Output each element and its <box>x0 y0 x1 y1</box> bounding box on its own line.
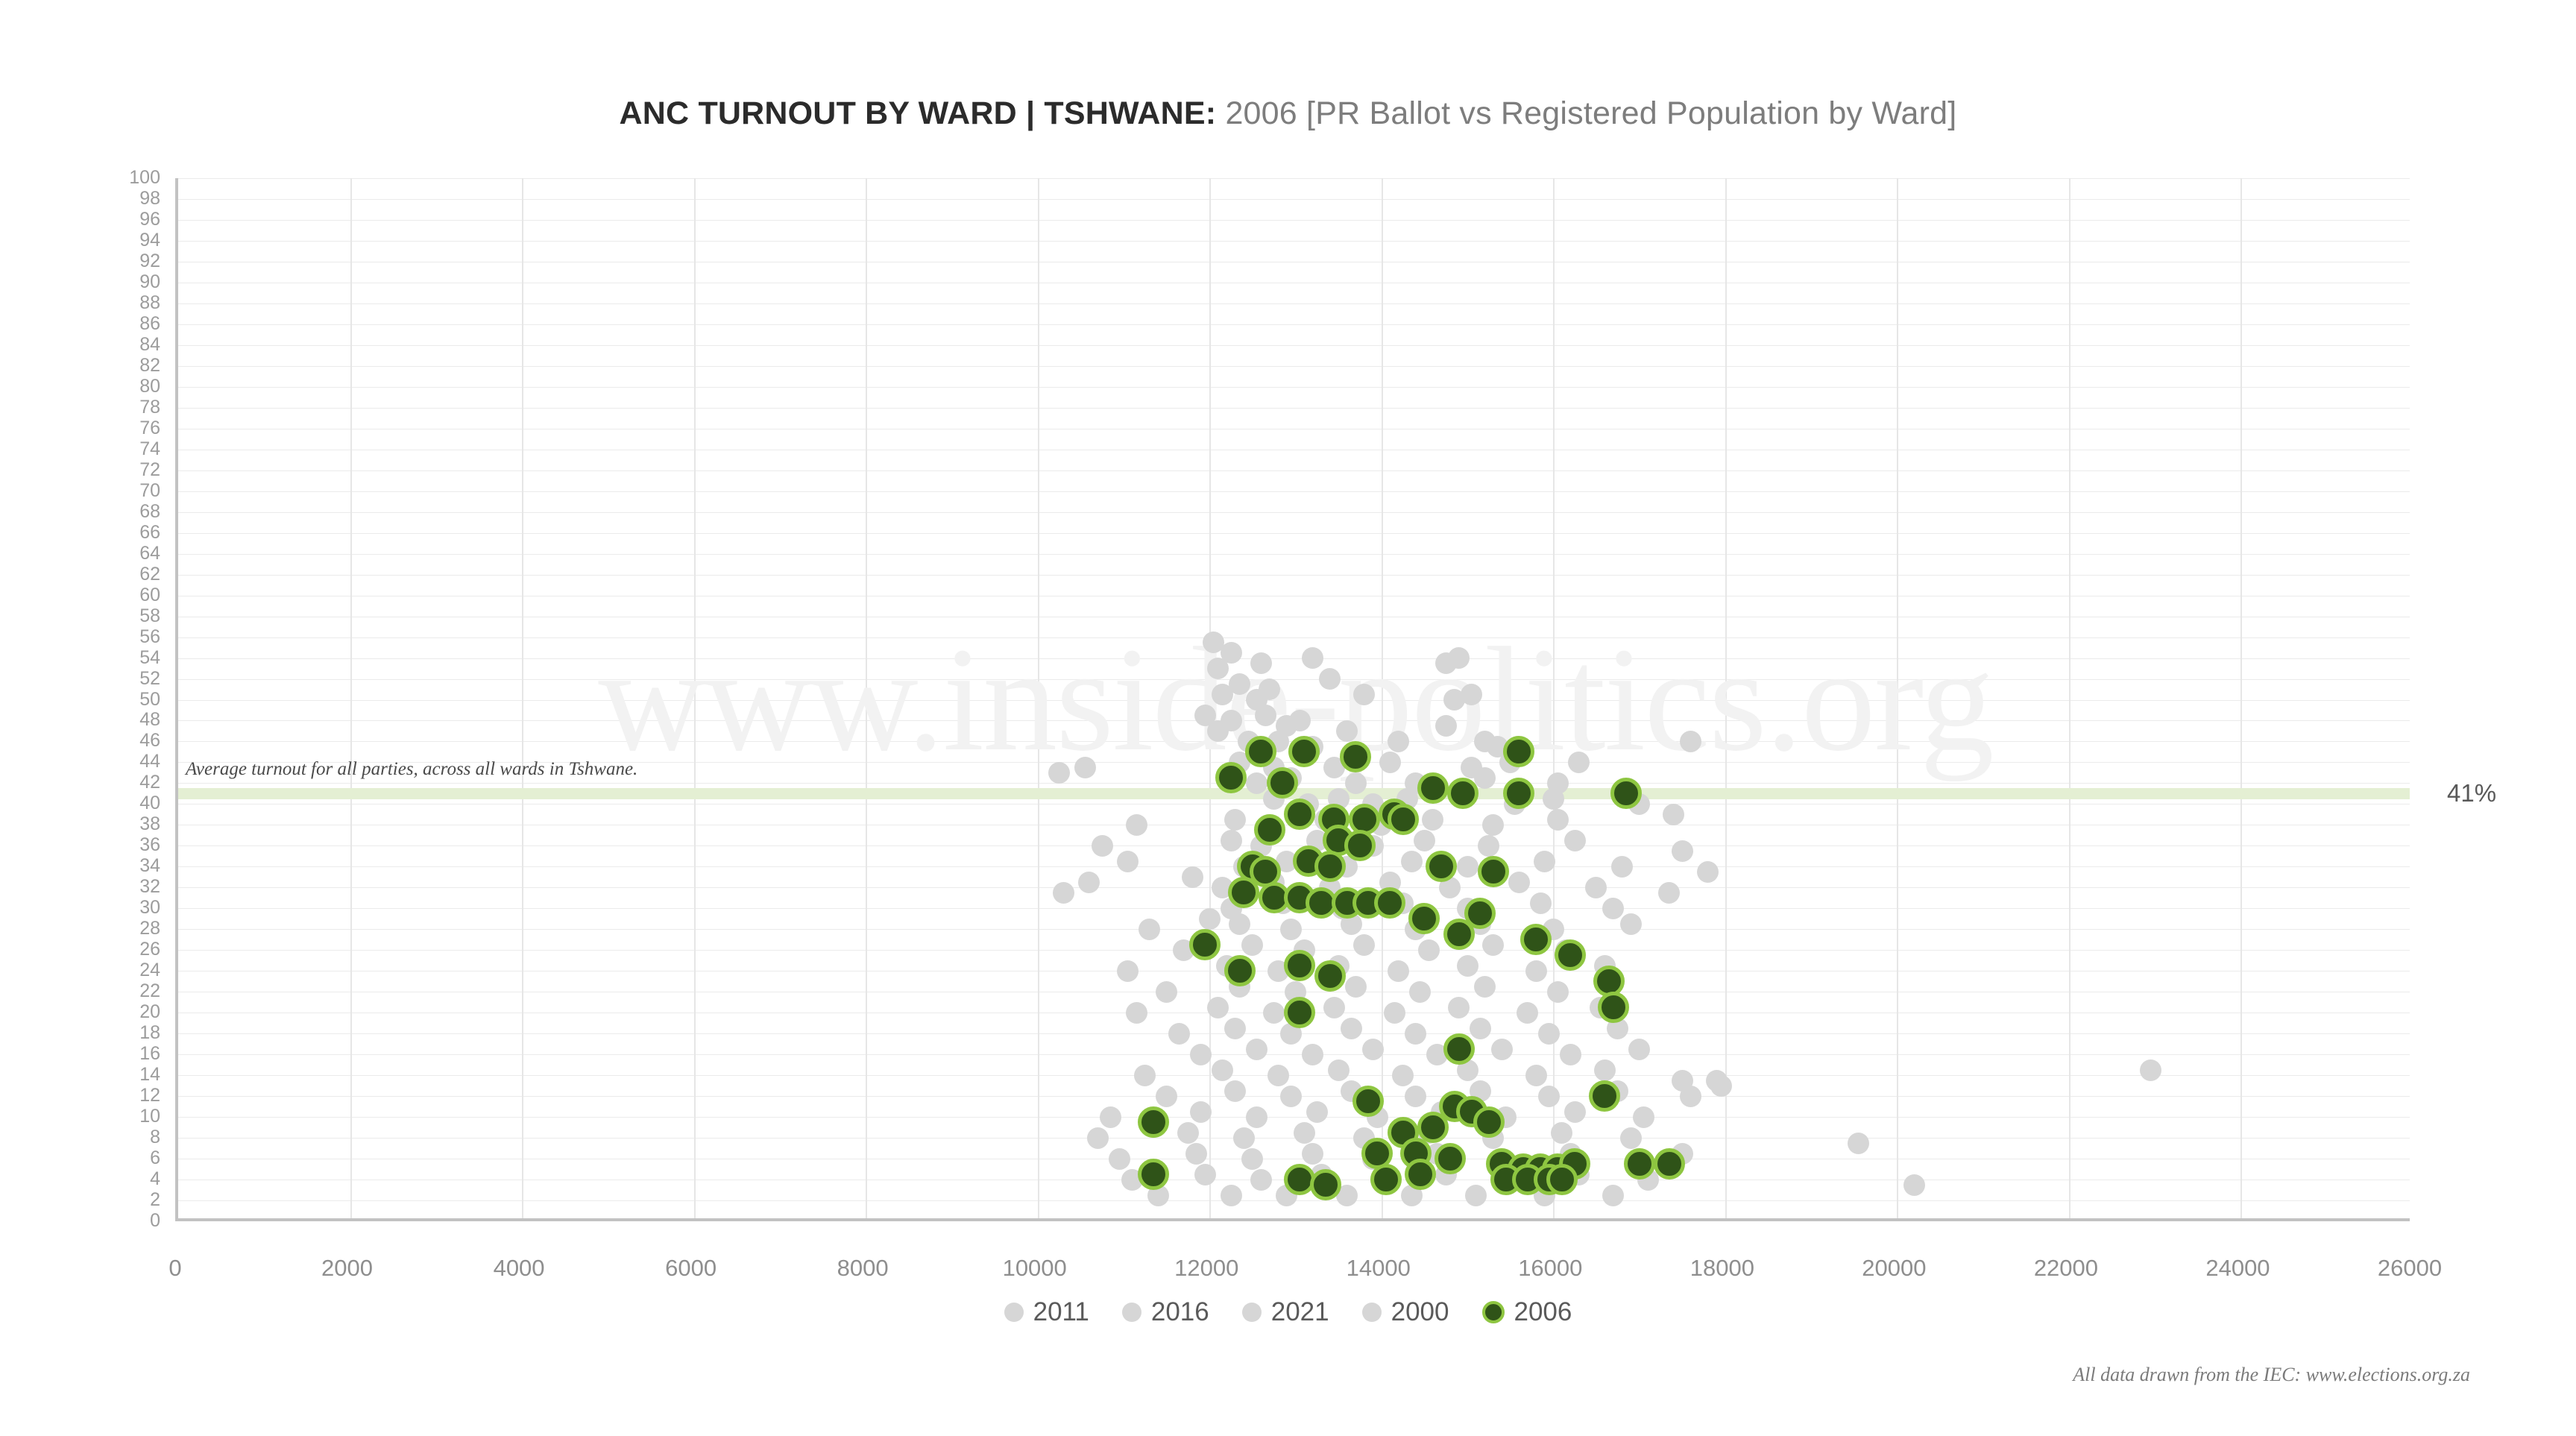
data-point-other-year <box>2140 1059 2161 1081</box>
y-axis-tick-label: 86 <box>71 315 160 333</box>
data-point-other-year <box>1126 1002 1147 1024</box>
data-point-2006 <box>1478 856 1509 887</box>
data-point-other-year <box>1190 1044 1212 1065</box>
data-point-other-year <box>1255 705 1276 726</box>
data-point-other-year <box>1224 1018 1246 1039</box>
data-point-other-year <box>1508 872 1530 893</box>
data-point-2006 <box>1228 877 1259 908</box>
data-point-other-year <box>1233 1127 1255 1149</box>
data-point-2006 <box>1138 1106 1169 1138</box>
data-point-other-year <box>1117 960 1139 982</box>
data-point-other-year <box>1306 1101 1328 1123</box>
y-axis-tick-label: 42 <box>71 773 160 792</box>
gridline-horizontal <box>178 220 2410 221</box>
data-point-other-year <box>1602 1185 1624 1206</box>
legend-label: 2016 <box>1151 1297 1209 1327</box>
data-point-other-year <box>1465 1185 1487 1206</box>
y-axis-tick-label: 72 <box>71 461 160 479</box>
data-point-other-year <box>1246 1106 1267 1128</box>
y-axis-tick-label: 18 <box>71 1024 160 1042</box>
data-point-other-year <box>1241 934 1263 956</box>
data-point-other-year <box>1538 1086 1560 1107</box>
data-point-2006 <box>1654 1148 1685 1180</box>
gridline-horizontal <box>178 512 2410 513</box>
data-point-2006 <box>1314 851 1346 882</box>
y-axis-tick-label: 34 <box>71 857 160 875</box>
data-point-other-year <box>1048 762 1070 784</box>
y-axis-tick-label: 76 <box>71 419 160 438</box>
gridline-vertical <box>1897 178 1898 1221</box>
data-point-other-year <box>1212 684 1233 705</box>
data-point-other-year <box>1388 960 1409 982</box>
data-point-other-year <box>1194 1164 1216 1185</box>
title-main: ANC TURNOUT BY WARD | TSHWANE: <box>620 95 1217 131</box>
legend-item[interactable]: 2016 <box>1122 1297 1209 1327</box>
gridline-horizontal <box>178 533 2410 534</box>
data-point-other-year <box>1620 913 1642 935</box>
data-point-other-year <box>1388 731 1409 752</box>
data-point-other-year <box>1564 1101 1586 1123</box>
data-point-2006 <box>1224 955 1256 986</box>
data-point-other-year <box>1182 866 1203 888</box>
data-point-other-year <box>1139 919 1160 940</box>
data-point-other-year <box>1199 908 1221 930</box>
data-point-other-year <box>1353 684 1375 705</box>
y-axis-tick-label: 66 <box>71 523 160 542</box>
y-axis-tick-label: 8 <box>71 1128 160 1147</box>
y-axis-tick-label: 20 <box>71 1003 160 1021</box>
gridline-vertical <box>522 178 523 1221</box>
data-point-other-year <box>1611 856 1633 878</box>
gridline-horizontal <box>178 1075 2410 1076</box>
y-axis-tick-label: 4 <box>71 1170 160 1188</box>
data-point-other-year <box>1680 1086 1701 1107</box>
y-axis-tick-label: 6 <box>71 1149 160 1168</box>
data-point-other-year <box>1672 840 1693 862</box>
data-point-other-year <box>1435 715 1457 737</box>
x-axis-tick-label: 22000 <box>1991 1255 2141 1282</box>
data-point-other-year <box>1345 976 1367 998</box>
gridline-vertical <box>2069 178 2070 1221</box>
data-point-2006 <box>1598 992 1629 1023</box>
y-axis-tick-label: 40 <box>71 794 160 813</box>
y-axis-tick-label: 74 <box>71 440 160 459</box>
gridline-horizontal <box>178 324 2410 325</box>
gridline-horizontal <box>178 679 2410 680</box>
y-axis-tick-label: 36 <box>71 836 160 854</box>
gridline-horizontal <box>178 387 2410 388</box>
legend-item[interactable]: 2000 <box>1362 1297 1449 1327</box>
y-axis-tick-label: 10 <box>71 1107 160 1126</box>
y-axis-tick-label: 96 <box>71 210 160 229</box>
data-point-other-year <box>1302 1044 1323 1065</box>
data-point-other-year <box>1543 788 1564 810</box>
gridline-horizontal <box>178 1159 2410 1159</box>
data-point-2006 <box>1344 830 1376 861</box>
data-point-other-year <box>1224 1080 1246 1102</box>
gridline-horizontal <box>178 450 2410 450</box>
data-point-other-year <box>1568 752 1590 773</box>
data-point-other-year <box>1328 1059 1350 1081</box>
legend-label: 2021 <box>1271 1297 1329 1327</box>
data-point-other-year <box>1658 882 1680 904</box>
gridline-vertical <box>2240 178 2242 1221</box>
data-point-other-year <box>1517 1002 1538 1024</box>
data-point-other-year <box>1190 1101 1212 1123</box>
x-axis-tick-label: 8000 <box>788 1255 937 1282</box>
gridline-horizontal <box>178 241 2410 242</box>
data-point-other-year <box>1525 960 1547 982</box>
y-axis-tick-label: 24 <box>71 961 160 980</box>
gridline-horizontal <box>178 283 2410 283</box>
data-point-other-year <box>1345 772 1367 794</box>
data-point-other-year <box>1663 804 1684 825</box>
gridline-vertical <box>1038 178 1039 1221</box>
data-point-other-year <box>1384 1002 1405 1024</box>
data-point-2006 <box>1284 950 1315 981</box>
data-point-other-year <box>1903 1174 1925 1196</box>
gridline-vertical <box>1553 178 1555 1221</box>
y-axis-tick-label: 12 <box>71 1086 160 1105</box>
data-point-other-year <box>1405 1086 1426 1107</box>
y-axis-tick-label: 64 <box>71 544 160 563</box>
gridline-horizontal <box>178 199 2410 200</box>
data-point-2006 <box>1189 929 1221 960</box>
y-axis-tick-label: 58 <box>71 607 160 626</box>
gridline-vertical <box>1382 178 1383 1221</box>
x-axis-ticks: 0200040006000800010000120001400016000180… <box>0 1255 2576 1300</box>
y-axis-tick-label: 92 <box>71 252 160 271</box>
y-axis-tick-label: 68 <box>71 503 160 521</box>
data-point-other-year <box>1224 809 1246 831</box>
y-axis-tick-label: 14 <box>71 1065 160 1084</box>
data-point-2006 <box>1555 939 1586 971</box>
data-point-2006 <box>1138 1159 1169 1190</box>
x-axis-tick-label: 6000 <box>617 1255 766 1282</box>
data-point-2006 <box>1624 1148 1655 1180</box>
gridline-vertical <box>1209 178 1211 1221</box>
y-axis-tick-label: 50 <box>71 690 160 709</box>
data-point-other-year <box>1246 772 1267 794</box>
data-point-other-year <box>1134 1065 1156 1086</box>
data-point-other-year <box>1585 877 1607 898</box>
data-point-other-year <box>1100 1106 1121 1128</box>
y-axis-tick-label: 38 <box>71 815 160 834</box>
y-axis-tick-label: 84 <box>71 336 160 354</box>
gridline-horizontal <box>178 491 2410 492</box>
data-source-note: All data drawn from the IEC: www.electio… <box>2073 1364 2470 1386</box>
data-point-other-year <box>1564 830 1586 851</box>
gridline-horizontal <box>178 845 2410 846</box>
data-point-other-year <box>1207 720 1229 742</box>
data-point-other-year <box>1461 684 1482 705</box>
gridline-horizontal <box>178 429 2410 429</box>
gridline-vertical <box>694 178 696 1221</box>
gridline-vertical <box>350 178 352 1221</box>
data-point-other-year <box>1538 1023 1560 1045</box>
data-point-2006 <box>1314 960 1346 992</box>
data-point-other-year <box>1280 919 1302 940</box>
data-point-other-year <box>1126 814 1147 836</box>
legend-item[interactable]: 2011 <box>1004 1297 1089 1327</box>
data-point-other-year <box>1620 1127 1642 1149</box>
y-axis-tick-label: 32 <box>71 878 160 896</box>
data-point-other-year <box>1491 1039 1513 1060</box>
average-turnout-value: 41% <box>2447 779 2496 807</box>
gridline-horizontal <box>178 658 2410 659</box>
data-point-other-year <box>1221 1185 1242 1206</box>
data-point-2006 <box>1284 997 1315 1028</box>
x-axis-tick-label: 24000 <box>2163 1255 2312 1282</box>
data-point-2006 <box>1589 1080 1620 1112</box>
gridline-horizontal <box>178 554 2410 555</box>
y-axis-tick-label: 28 <box>71 919 160 938</box>
y-axis-tick-label: 30 <box>71 898 160 917</box>
y-axis-ticks: 0246810121416182022242628303234363840424… <box>63 0 160 1436</box>
gridline-horizontal <box>178 617 2410 617</box>
data-point-other-year <box>1053 882 1074 904</box>
data-point-other-year <box>1602 898 1624 919</box>
data-point-other-year <box>1470 1018 1491 1039</box>
y-axis-tick-label: 100 <box>71 169 160 187</box>
data-point-other-year <box>1250 652 1272 674</box>
data-point-other-year <box>1482 814 1504 836</box>
data-point-other-year <box>1074 757 1096 778</box>
legend-label: 2006 <box>1514 1297 1572 1327</box>
data-point-other-year <box>1353 934 1375 956</box>
data-point-other-year <box>1710 1075 1732 1097</box>
data-point-other-year <box>1250 1169 1272 1191</box>
title-subtitle: 2006 [PR Ballot vs Registered Population… <box>1216 95 1956 131</box>
data-point-other-year <box>1392 1065 1414 1086</box>
data-point-other-year <box>1680 731 1701 752</box>
y-axis-tick-label: 52 <box>71 670 160 688</box>
legend-label: 2000 <box>1391 1297 1449 1327</box>
y-axis-tick-label: 0 <box>71 1212 160 1230</box>
data-point-other-year <box>1156 1086 1177 1107</box>
page-title: ANC TURNOUT BY WARD | TSHWANE: 2006 [PR … <box>0 95 2576 132</box>
data-point-other-year <box>1341 1018 1362 1039</box>
plot-area: www.inside-politics.org Average turnout … <box>175 178 2410 1221</box>
data-point-other-year <box>1259 678 1280 700</box>
x-axis-tick-label: 14000 <box>1304 1255 1453 1282</box>
data-point-other-year <box>1697 861 1719 883</box>
gridline-horizontal <box>178 637 2410 638</box>
data-point-other-year <box>1547 809 1569 831</box>
data-point-other-year <box>1177 1122 1199 1144</box>
data-point-other-year <box>1267 1065 1289 1086</box>
data-point-other-year <box>1241 1148 1263 1170</box>
y-axis-tick-label: 60 <box>71 586 160 605</box>
y-axis-tick-label: 16 <box>71 1045 160 1063</box>
data-point-other-year <box>1422 809 1443 831</box>
data-point-other-year <box>1405 1023 1426 1045</box>
data-point-other-year <box>1078 872 1100 893</box>
data-point-other-year <box>1087 1127 1109 1149</box>
y-axis-tick-label: 98 <box>71 189 160 208</box>
data-point-2006 <box>1370 1164 1402 1195</box>
data-point-other-year <box>1168 1023 1190 1045</box>
gridline-horizontal <box>178 1117 2410 1118</box>
legend-swatch-icon <box>1482 1301 1505 1323</box>
data-point-other-year <box>1418 939 1440 961</box>
chart-page: ANC TURNOUT BY WARD | TSHWANE: 2006 [PR … <box>0 0 2576 1436</box>
data-point-other-year <box>1156 981 1177 1003</box>
data-point-other-year <box>1280 1086 1302 1107</box>
y-axis-tick-label: 2 <box>71 1191 160 1209</box>
data-point-other-year <box>1185 1143 1207 1165</box>
legend-swatch-icon <box>1242 1303 1262 1322</box>
data-point-other-year <box>1294 1122 1315 1144</box>
data-point-other-year <box>1457 856 1478 878</box>
y-axis-tick-label: 94 <box>71 231 160 250</box>
legend-label: 2011 <box>1033 1297 1089 1327</box>
data-point-other-year <box>1336 720 1358 742</box>
data-point-other-year <box>1229 913 1250 935</box>
x-axis-tick-label: 10000 <box>960 1255 1109 1282</box>
data-point-other-year <box>1560 1044 1581 1065</box>
y-axis-tick-label: 78 <box>71 398 160 417</box>
data-point-other-year <box>1109 1148 1130 1170</box>
data-point-2006 <box>1254 814 1285 845</box>
data-point-2006 <box>1473 1106 1505 1138</box>
data-point-other-year <box>1323 997 1345 1018</box>
gridline-vertical <box>1725 178 1727 1221</box>
y-axis-tick-label: 82 <box>71 356 160 375</box>
data-point-other-year <box>1482 934 1504 956</box>
y-axis-tick-label: 90 <box>71 273 160 292</box>
data-point-other-year <box>1263 1002 1285 1024</box>
data-point-other-year <box>1474 976 1496 998</box>
x-axis-tick-label: 0 <box>101 1255 250 1282</box>
gridline-horizontal <box>178 262 2410 262</box>
x-axis-tick-label: 12000 <box>1132 1255 1281 1282</box>
gridline-horizontal <box>178 575 2410 576</box>
data-point-other-year <box>1414 830 1435 851</box>
data-point-2006 <box>1443 1033 1475 1065</box>
data-point-other-year <box>1117 851 1139 872</box>
data-point-other-year <box>1848 1133 1869 1154</box>
legend-swatch-icon <box>1004 1303 1024 1322</box>
gridline-horizontal <box>178 700 2410 701</box>
x-axis-tick-label: 20000 <box>1819 1255 1968 1282</box>
y-axis-tick-label: 46 <box>71 731 160 750</box>
data-point-2006 <box>1417 772 1449 804</box>
average-turnout-note: Average turnout for all parties, across … <box>186 759 637 780</box>
y-axis-tick-label: 62 <box>71 565 160 584</box>
data-point-other-year <box>1207 658 1229 679</box>
data-point-other-year <box>1628 1039 1650 1060</box>
y-axis-tick-label: 56 <box>71 628 160 646</box>
data-point-other-year <box>1551 1122 1572 1144</box>
data-point-2006 <box>1546 1164 1578 1195</box>
x-axis-tick-label: 2000 <box>273 1255 422 1282</box>
data-point-other-year <box>1409 981 1431 1003</box>
data-point-other-year <box>1319 668 1341 690</box>
legend: 20112016202120002006 <box>0 1297 2576 1327</box>
data-point-other-year <box>1478 835 1499 857</box>
data-point-2006 <box>1374 887 1405 919</box>
data-point-other-year <box>1534 851 1555 872</box>
gridline-horizontal <box>178 178 2410 179</box>
data-point-2006 <box>1405 1159 1436 1190</box>
y-axis-tick-label: 54 <box>71 649 160 667</box>
gridline-horizontal <box>178 1138 2410 1139</box>
data-point-other-year <box>1530 892 1552 914</box>
gridline-horizontal <box>178 366 2410 367</box>
data-point-other-year <box>1547 981 1569 1003</box>
legend-item[interactable]: 2021 <box>1242 1297 1329 1327</box>
x-axis-tick-label: 4000 <box>444 1255 593 1282</box>
y-axis-tick-label: 22 <box>71 982 160 1001</box>
data-point-other-year <box>1092 835 1113 857</box>
data-point-other-year <box>1474 767 1496 789</box>
data-point-other-year <box>1457 955 1478 977</box>
data-point-other-year <box>1448 997 1470 1018</box>
y-axis-tick-label: 88 <box>71 294 160 312</box>
y-axis-tick-label: 80 <box>71 377 160 396</box>
data-point-other-year <box>1207 997 1229 1018</box>
gridline-horizontal <box>178 345 2410 346</box>
data-point-other-year <box>1448 647 1470 669</box>
gridline-horizontal <box>178 408 2410 409</box>
legend-item[interactable]: 2006 <box>1482 1297 1572 1327</box>
data-point-2006 <box>1388 804 1419 835</box>
y-axis-tick-label: 48 <box>71 711 160 729</box>
y-axis-tick-label: 26 <box>71 940 160 959</box>
data-point-other-year <box>1212 1059 1233 1081</box>
data-point-other-year <box>1246 1039 1267 1060</box>
x-axis-tick-label: 26000 <box>2335 1255 2484 1282</box>
data-point-2006 <box>1443 919 1475 950</box>
data-point-other-year <box>1594 1059 1616 1081</box>
legend-swatch-icon <box>1122 1303 1141 1322</box>
data-point-2006 <box>1340 741 1371 772</box>
gridline-horizontal <box>178 1054 2410 1055</box>
data-point-2006 <box>1435 1143 1466 1174</box>
gridline-horizontal <box>178 596 2410 596</box>
y-axis-tick-label: 70 <box>71 482 160 500</box>
data-point-2006 <box>1310 1169 1341 1200</box>
data-point-other-year <box>1379 752 1401 773</box>
gridline-horizontal <box>178 470 2410 471</box>
legend-swatch-icon <box>1362 1303 1382 1322</box>
x-axis-tick-label: 18000 <box>1648 1255 1797 1282</box>
data-point-other-year <box>1302 647 1323 669</box>
data-point-other-year <box>1362 1039 1384 1060</box>
data-point-other-year <box>1221 830 1242 851</box>
data-point-other-year <box>1302 1143 1323 1165</box>
gridline-horizontal <box>178 303 2410 304</box>
data-point-other-year <box>1633 1106 1654 1128</box>
data-point-other-year <box>1401 851 1423 872</box>
data-point-other-year <box>1525 1065 1547 1086</box>
x-axis-tick-label: 16000 <box>1476 1255 1625 1282</box>
gridline-vertical <box>866 178 867 1221</box>
y-axis-tick-label: 44 <box>71 752 160 771</box>
